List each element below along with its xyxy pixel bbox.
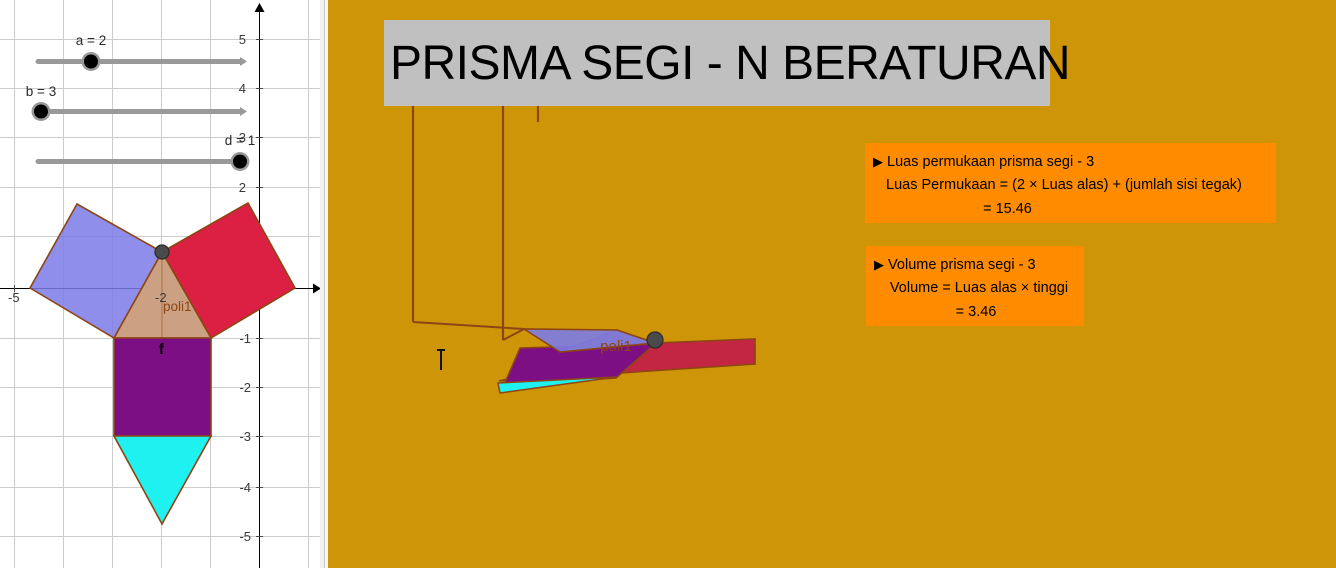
slider-d[interactable]: d = 1 [38, 133, 255, 171]
slider-d-label: d = 1 [225, 133, 255, 148]
slider-d-thumb-dot[interactable] [233, 155, 247, 169]
slider-a-thumb-dot[interactable] [84, 55, 98, 69]
axis-y-label-2: 2 [239, 180, 246, 195]
net-polygon-label: poli1 [163, 299, 192, 314]
slider-b-arrow-icon [240, 107, 247, 116]
axis-y-arrow [255, 3, 265, 12]
graphics-view-2d[interactable]: poli1 f -5 -2 5 4 3 2 -1 -2 -3 -4 -5 a =… [0, 0, 320, 568]
volume-result: = 3.46 [874, 301, 1078, 324]
info-box-surface-area[interactable]: ▶ Luas permukaan prisma segi - 3 Luas Pe… [865, 143, 1276, 223]
prism3d-vertex-point[interactable] [647, 332, 663, 348]
volume-heading-row: ▶ Volume prisma segi - 3 [874, 254, 1078, 277]
surface-formula: Luas Permukaan = (2 × Luas alas) + (juml… [873, 174, 1270, 197]
net-segment-label: f [159, 342, 164, 358]
slider-b-label: b = 3 [26, 84, 56, 99]
surface-heading-row: ▶ Luas permukaan prisma segi - 3 [873, 151, 1270, 174]
expand-triangle-icon[interactable]: ▶ [874, 257, 884, 272]
volume-heading: Volume prisma segi - 3 [888, 257, 1035, 273]
expand-triangle-icon[interactable]: ▶ [873, 154, 883, 169]
axis-x-label-neg2: -2 [155, 290, 167, 305]
slider-a-label: a = 2 [76, 33, 106, 48]
slider-b[interactable]: b = 3 [26, 84, 247, 121]
slider-a-arrow-icon [240, 57, 247, 66]
info-box-volume[interactable]: ▶ Volume prisma segi - 3 Volume = Luas a… [866, 246, 1084, 326]
axis-y-label-neg4: -4 [239, 480, 251, 495]
slider-b-thumb-dot[interactable] [34, 105, 48, 119]
geogebra-app: poli1 f -5 -2 5 4 3 2 -1 -2 -3 -4 -5 a =… [0, 0, 1336, 568]
volume-formula: Volume = Luas alas × tinggi [874, 277, 1078, 300]
net-apex-point[interactable] [155, 245, 169, 259]
prism3d-polygon-label: poli1 [600, 338, 632, 355]
axis-y-label-neg2: -2 [239, 380, 251, 395]
axis-y-label-neg1: -1 [239, 331, 251, 346]
net-triangle-cyan[interactable] [114, 436, 211, 524]
axis-y-label-5: 5 [239, 32, 246, 47]
surface-result: = 15.46 [873, 198, 1270, 221]
title-banner: PRISMA SEGI - N BERATURAN [384, 20, 1050, 106]
prism3d-lower-edges [413, 322, 524, 340]
slider-a[interactable]: a = 2 [38, 33, 247, 71]
page-title: PRISMA SEGI - N BERATURAN [390, 36, 1070, 91]
axis-x-label-neg5: -5 [8, 290, 20, 305]
surface-heading: Luas permukaan prisma segi - 3 [887, 154, 1094, 170]
axis-y-label-neg3: -3 [239, 429, 251, 444]
prism3d-height-marker [437, 350, 445, 370]
axis-x-arrow [313, 284, 320, 294]
axis-y-label-neg5: -5 [239, 529, 251, 544]
axis-y-label-4: 4 [239, 81, 246, 96]
